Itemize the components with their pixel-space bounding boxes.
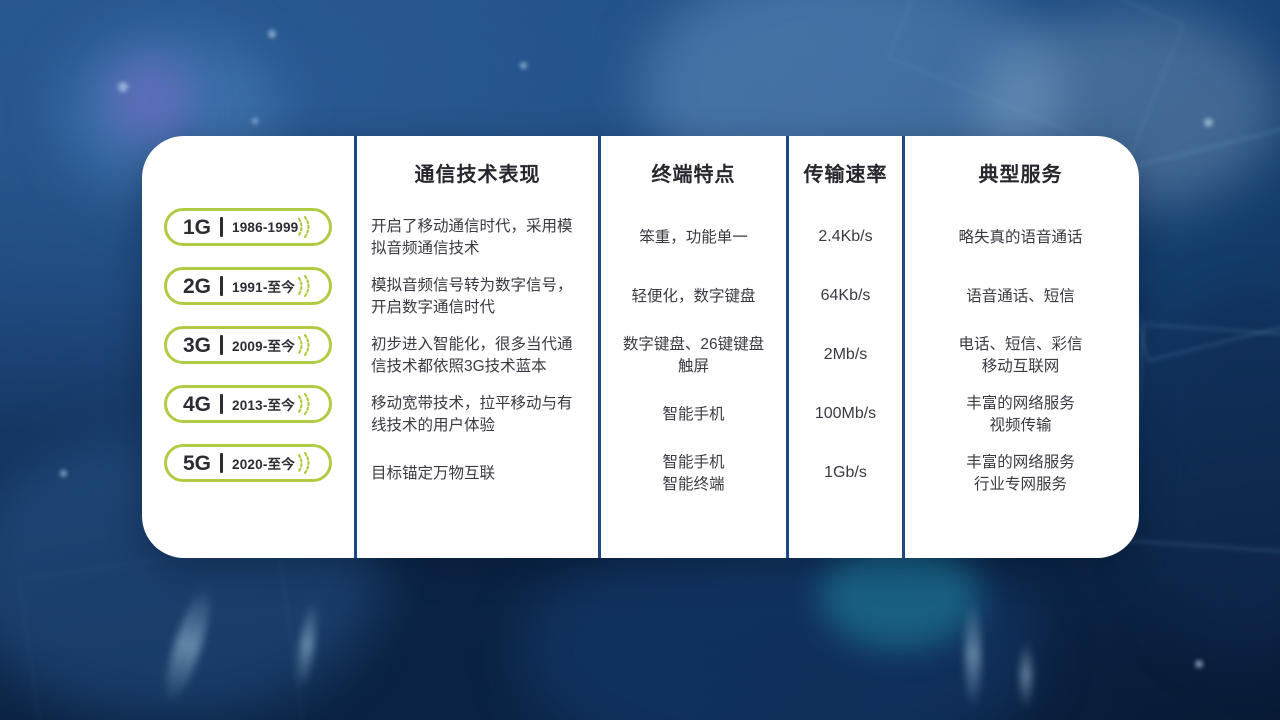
table-cell-tech: 开启了移动通信时代，采用模拟音频通信技术 [371, 208, 582, 267]
signal-wave-icon [296, 332, 316, 358]
background-particle [268, 30, 276, 38]
table-cell-rate: 2.4Kb/s [793, 208, 898, 267]
pill-separator [220, 276, 223, 296]
column-rate: 传输速率 2.4Kb/s 64Kb/s 2Mb/s 100Mb/s 1Gb/s [786, 136, 902, 558]
column-header-tech: 通信技术表现 [357, 136, 598, 208]
column-generation: 1G 1986-1999 2G 1991-至今 [142, 136, 354, 558]
background-wireframe [1128, 323, 1280, 556]
column-header-rate: 传输速率 [789, 136, 902, 208]
generation-years: 1986-1999 [232, 220, 298, 235]
generation-label: 2G [183, 276, 211, 297]
table-cell-terminal: 智能手机 [611, 385, 776, 444]
column-service: 典型服务 略失真的语音通话 语音通话、短信 电话、短信、彩信移动互联网 丰富的网… [902, 136, 1136, 558]
background-particle [1195, 660, 1203, 668]
comparison-card: 1G 1986-1999 2G 1991-至今 [142, 136, 1139, 558]
table-cell-service: 丰富的网络服务行业专网服务 [915, 444, 1126, 503]
generation-years: 1991-至今 [232, 276, 295, 296]
table-cell-rate: 100Mb/s [793, 385, 898, 444]
generation-pill-3g[interactable]: 3G 2009-至今 [164, 326, 332, 364]
table-cell-terminal: 轻便化，数字键盘 [611, 267, 776, 326]
table-cell-tech: 移动宽带技术，拉平移动与有线技术的用户体验 [371, 385, 582, 444]
table-cell-tech: 目标锚定万物互联 [371, 444, 582, 503]
table-cell-terminal: 笨重，功能单一 [611, 208, 776, 267]
generation-years: 2009-至今 [232, 335, 295, 355]
signal-wave-icon [296, 214, 316, 240]
column-header-terminal: 终端特点 [601, 136, 786, 208]
background-particle [60, 470, 67, 477]
generation-pill-2g[interactable]: 2G 1991-至今 [164, 267, 332, 305]
generation-label: 1G [183, 217, 211, 238]
column-tech: 通信技术表现 开启了移动通信时代，采用模拟音频通信技术 模拟音频信号转为数字信号… [354, 136, 598, 558]
table-cell-rate: 1Gb/s [793, 444, 898, 503]
generation-label: 3G [183, 335, 211, 356]
tech-list: 开启了移动通信时代，采用模拟音频通信技术 模拟音频信号转为数字信号，开启数字通信… [357, 208, 598, 503]
pill-separator [220, 217, 223, 237]
table-cell-service: 丰富的网络服务视频传输 [915, 385, 1126, 444]
generation-label: 5G [183, 453, 211, 474]
table-cell-service: 略失真的语音通话 [915, 208, 1126, 267]
table-cell-tech: 初步进入智能化，很多当代通信技术都依照3G技术蓝本 [371, 326, 582, 385]
generation-years: 2013-至今 [232, 394, 295, 414]
background-particle [118, 82, 128, 92]
generation-pill-1g[interactable]: 1G 1986-1999 [164, 208, 332, 246]
table-cell-service: 语音通话、短信 [915, 267, 1126, 326]
pill-separator [220, 453, 223, 473]
column-header-generation [142, 136, 354, 208]
table-cell-service: 电话、短信、彩信移动互联网 [915, 326, 1126, 385]
table-cell-tech: 模拟音频信号转为数字信号，开启数字通信时代 [371, 267, 582, 326]
generation-years: 2020-至今 [232, 453, 295, 473]
service-list: 略失真的语音通话 语音通话、短信 电话、短信、彩信移动互联网 丰富的网络服务视频… [905, 208, 1136, 503]
column-terminal: 终端特点 笨重，功能单一 轻便化，数字键盘 数字键盘、26键键盘触屏 智能手机 … [598, 136, 786, 558]
background-particle [1204, 118, 1213, 127]
generation-list: 1G 1986-1999 2G 1991-至今 [142, 208, 354, 503]
generation-pill-4g[interactable]: 4G 2013-至今 [164, 385, 332, 423]
table-cell-terminal: 智能手机智能终端 [611, 444, 776, 503]
pill-separator [220, 335, 223, 355]
background-glow [105, 55, 195, 145]
table-cell-terminal: 数字键盘、26键键盘触屏 [611, 326, 776, 385]
table-cell-rate: 64Kb/s [793, 267, 898, 326]
background-streak [965, 600, 981, 710]
slide-canvas: 1G 1986-1999 2G 1991-至今 [0, 0, 1280, 720]
signal-wave-icon [296, 450, 316, 476]
rate-list: 2.4Kb/s 64Kb/s 2Mb/s 100Mb/s 1Gb/s [789, 208, 902, 503]
terminal-list: 笨重，功能单一 轻便化，数字键盘 数字键盘、26键键盘触屏 智能手机 智能手机智… [601, 208, 786, 503]
signal-wave-icon [296, 391, 316, 417]
table-cell-rate: 2Mb/s [793, 326, 898, 385]
background-particle [520, 62, 527, 69]
background-particle [252, 118, 258, 124]
pill-separator [220, 394, 223, 414]
signal-wave-icon [296, 273, 316, 299]
column-header-service: 典型服务 [905, 136, 1136, 208]
generation-label: 4G [183, 394, 211, 415]
background-streak [1020, 640, 1032, 710]
generation-pill-5g[interactable]: 5G 2020-至今 [164, 444, 332, 482]
